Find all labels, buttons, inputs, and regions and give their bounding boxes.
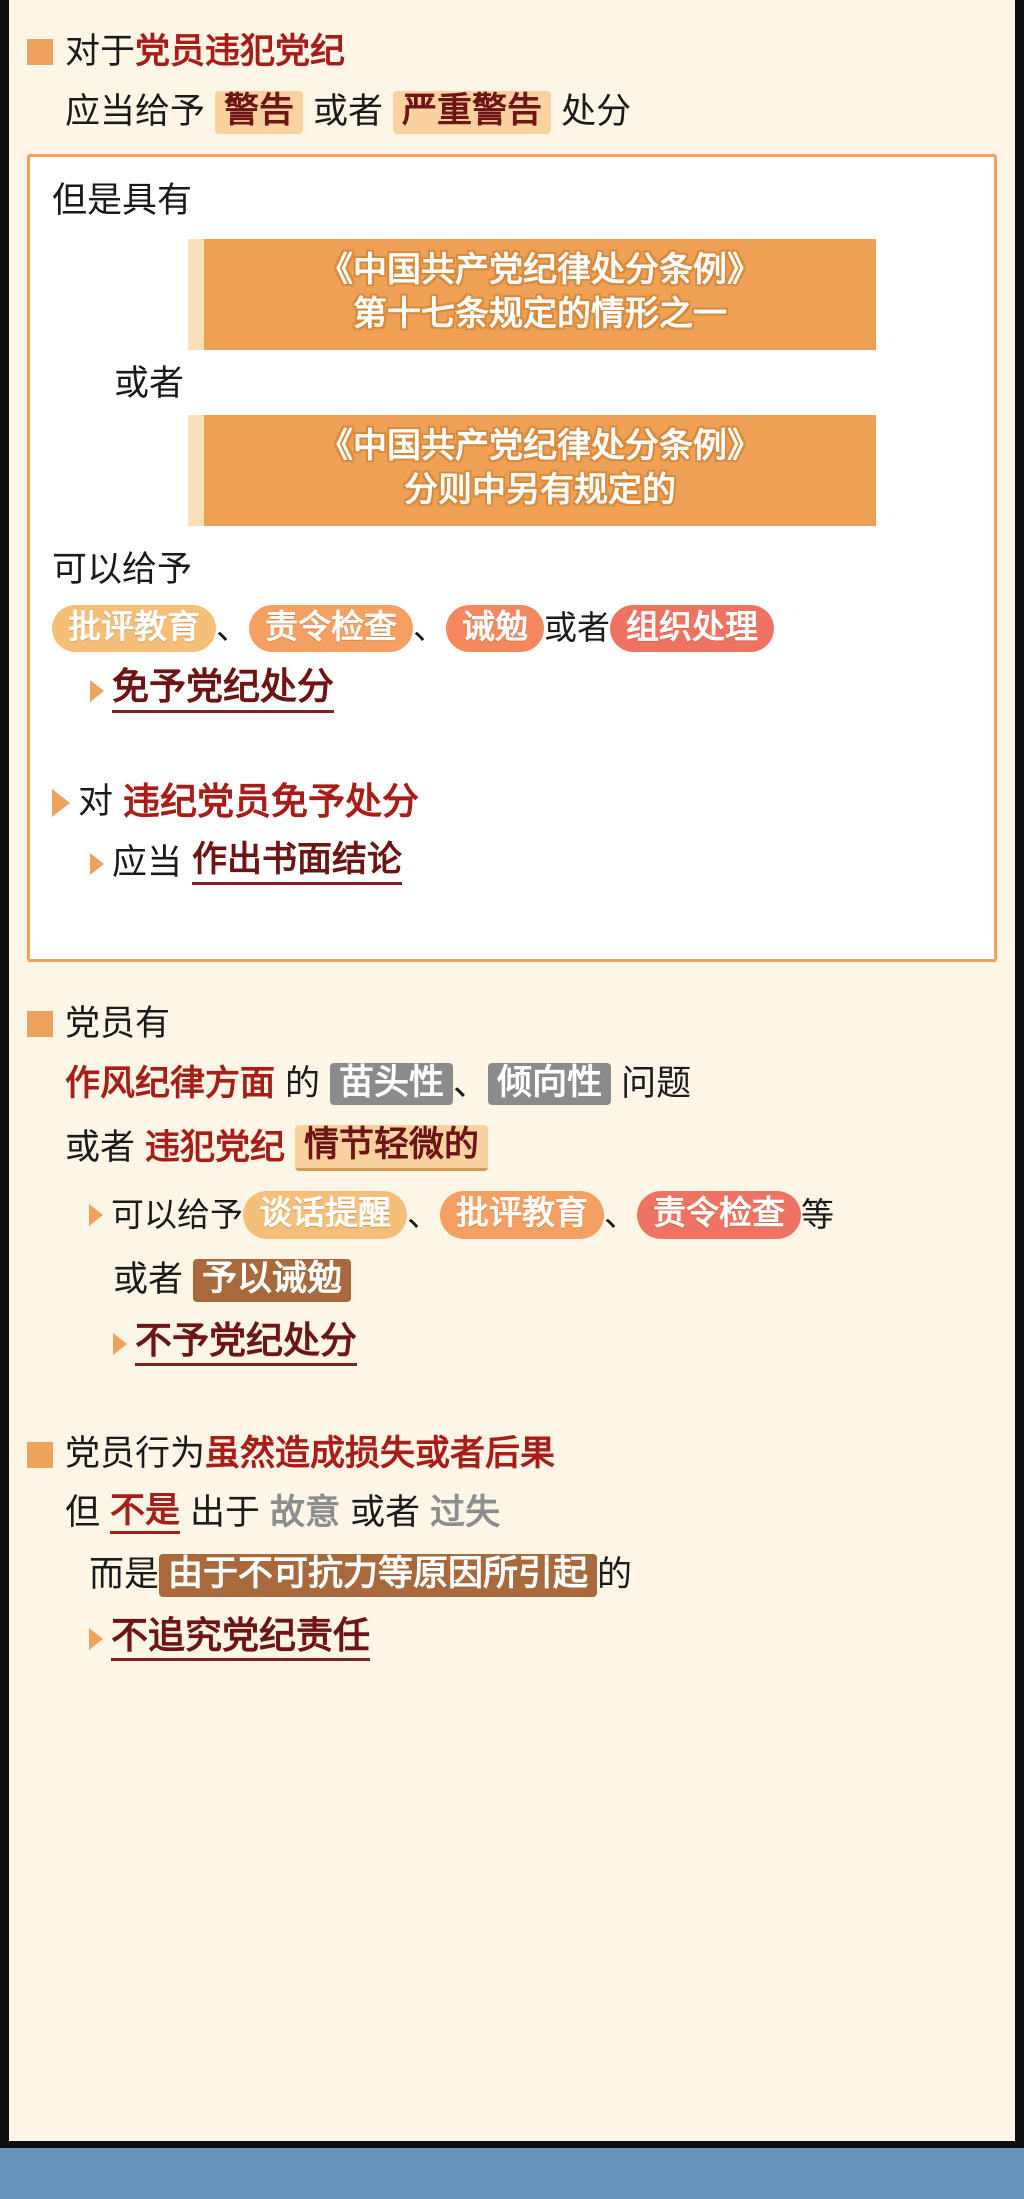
pill-organizational-handling[interactable]: 组织处理 bbox=[610, 605, 774, 653]
chip-force-majeure: 由于不可抗力等原因所引起 bbox=[159, 1554, 597, 1597]
banner1-line1: 《中国共产党纪律处分条例》 bbox=[222, 249, 858, 293]
section3-l2-b: 的 bbox=[597, 1557, 632, 1594]
banner2-wrap: 《中国共产党纪律处分条例》 分则中另有规定的 bbox=[52, 415, 972, 526]
section3-l2-a: 而是 bbox=[89, 1557, 159, 1594]
section2-l2-red: 违犯党纪 bbox=[145, 1130, 285, 1167]
frame-connector: 或者 bbox=[52, 366, 972, 403]
pill-admonishment[interactable]: 诫勉 bbox=[446, 605, 544, 653]
section3-l1-gray1: 故意 bbox=[270, 1495, 340, 1532]
section3-l1-b: 出于 bbox=[190, 1495, 260, 1532]
chip-warning: 警告 bbox=[215, 91, 303, 134]
frame-line1: 但是具有 bbox=[52, 183, 972, 220]
pill-order-inspection[interactable]: 责令检查 bbox=[637, 1191, 801, 1239]
section2-result-text: 不予党纪处分 bbox=[135, 1322, 357, 1367]
frame-conclusion: 对 违纪党员免予处分 bbox=[52, 783, 972, 822]
frame-result-1-text: 免予党纪处分 bbox=[112, 668, 334, 713]
triangle-bullet-icon bbox=[89, 1628, 103, 1650]
triangle-bullet-icon bbox=[90, 853, 104, 875]
frame-conclusion-a: 对 bbox=[78, 784, 113, 821]
banner1-wrap: 《中国共产党纪律处分条例》 第十七条规定的情形之一 bbox=[52, 239, 972, 350]
law-banner-1: 《中国共产党纪律处分条例》 第十七条规定的情形之一 bbox=[188, 239, 876, 350]
section3-heading-red: 虽然造成损失或者后果 bbox=[205, 1436, 555, 1473]
triangle-bullet-icon bbox=[52, 789, 70, 817]
section2-result: 不予党纪处分 bbox=[27, 1322, 997, 1367]
section3-line2: 而是 由于不可抗力等原因所引起 的 bbox=[27, 1554, 997, 1597]
pill-order-inspection[interactable]: 责令检查 bbox=[249, 605, 413, 653]
section2-l1-red: 作风纪律方面 bbox=[65, 1066, 275, 1103]
section2-l2-a: 或者 bbox=[65, 1130, 135, 1167]
bottom-divider bbox=[0, 2141, 1024, 2148]
banner1-line2: 第十七条规定的情形之一 bbox=[222, 293, 858, 337]
frame-conclusion-sub-a: 应当 bbox=[112, 845, 182, 882]
section2-l3-sep-2: 、 bbox=[604, 1198, 637, 1233]
left-rail bbox=[0, 0, 9, 2199]
law-banner-2: 《中国共产党纪律处分条例》 分则中另有规定的 bbox=[188, 415, 876, 526]
section1-line2-c: 处分 bbox=[561, 94, 631, 131]
section3-result: 不追究党纪责任 bbox=[27, 1617, 997, 1662]
pill-criticism-education[interactable]: 批评教育 bbox=[440, 1191, 604, 1239]
pill-sep-2: 、 bbox=[413, 611, 446, 646]
section3-line1: 但 不是 出于 故意 或者 过失 bbox=[27, 1493, 997, 1534]
chip-severe-warning: 严重警告 bbox=[393, 91, 551, 134]
section1-heading-plain: 对于 bbox=[65, 34, 135, 71]
frame-result-1: 免予党纪处分 bbox=[52, 668, 972, 713]
chip-minor-circumstance: 情节轻微的 bbox=[295, 1125, 488, 1171]
section2-l1-de: 的 bbox=[285, 1066, 320, 1103]
bottom-blue-band bbox=[0, 2148, 1024, 2199]
section2-l1-tail: 问题 bbox=[621, 1066, 691, 1103]
section1-frame: 但是具有 《中国共产党纪律处分条例》 第十七条规定的情形之一 或者 《中国共产党… bbox=[27, 154, 997, 962]
section1-heading: 对于 党员违犯党纪 bbox=[27, 34, 997, 71]
frame-can-give: 可以给予 bbox=[52, 552, 972, 589]
section1-line2: 应当给予 警告 或者 严重警告 处分 bbox=[27, 91, 997, 134]
frame-connector-text: 或者 bbox=[114, 366, 184, 403]
section2-l3-tail: 等 bbox=[801, 1198, 834, 1233]
square-bullet-icon bbox=[27, 39, 53, 65]
section1-line2-b: 或者 bbox=[313, 94, 383, 131]
section2-line1: 作风纪律方面 的 苗头性 、 倾向性 问题 bbox=[27, 1063, 997, 1106]
frame-conclusion-sub-b: 作出书面结论 bbox=[192, 842, 402, 885]
triangle-bullet-icon bbox=[90, 680, 104, 702]
section2-l4-a: 或者 bbox=[113, 1262, 183, 1299]
infographic-page: 对于 党员违犯党纪 应当给予 警告 或者 严重警告 处分 但是具有 《中国共产 bbox=[0, 0, 1024, 2199]
right-rail bbox=[1015, 0, 1024, 2199]
section2-heading-text: 党员有 bbox=[65, 1006, 170, 1043]
chip-give-admonishment: 予以诫勉 bbox=[193, 1259, 351, 1302]
chip-budding-issue: 苗头性 bbox=[330, 1063, 453, 1106]
pill-criticism-education[interactable]: 批评教育 bbox=[52, 605, 216, 653]
section3-heading: 党员行为 虽然造成损失或者后果 bbox=[27, 1436, 997, 1473]
section3-heading-plain: 党员行为 bbox=[65, 1436, 205, 1473]
section3-result-text: 不追究党纪责任 bbox=[111, 1617, 370, 1662]
square-bullet-icon bbox=[27, 1442, 53, 1468]
section1-line2-a: 应当给予 bbox=[65, 94, 205, 131]
section3-l1-a: 但 bbox=[65, 1495, 100, 1532]
triangle-bullet-icon bbox=[89, 1204, 103, 1226]
section3-l1-c: 或者 bbox=[350, 1495, 420, 1532]
section3-l1-red: 不是 bbox=[110, 1493, 180, 1534]
frame-conclusion-sub: 应当 作出书面结论 bbox=[52, 842, 972, 885]
frame-line1-text: 但是具有 bbox=[52, 183, 192, 220]
frame-can-give-text: 可以给予 bbox=[52, 552, 192, 589]
measure-pill-row: 批评教育 、 责令检查 、 诫勉 或者 组织处理 bbox=[52, 605, 972, 653]
chip-tendency-issue: 倾向性 bbox=[488, 1063, 611, 1106]
section2-line4: 或者 予以诫勉 bbox=[27, 1259, 997, 1302]
section2-heading: 党员有 bbox=[27, 1006, 997, 1043]
section3-l1-gray2: 过失 bbox=[430, 1495, 500, 1532]
triangle-bullet-icon bbox=[113, 1333, 127, 1355]
banner2-line1: 《中国共产党纪律处分条例》 bbox=[222, 425, 858, 469]
pill-sep-1: 、 bbox=[216, 611, 249, 646]
square-bullet-icon bbox=[27, 1011, 53, 1037]
section2-l3-a: 可以给予 bbox=[111, 1198, 243, 1233]
section2-line3: 可以给予 谈话提醒 、 批评教育 、 责令检查 等 bbox=[27, 1191, 997, 1239]
content-column: 对于 党员违犯党纪 应当给予 警告 或者 严重警告 处分 但是具有 《中国共产 bbox=[9, 0, 1015, 1661]
frame-conclusion-b: 违纪党员免予处分 bbox=[123, 783, 419, 822]
pill-or-text: 或者 bbox=[544, 611, 610, 646]
pill-talk-reminder[interactable]: 谈话提醒 bbox=[243, 1191, 407, 1239]
banner2-line2: 分则中另有规定的 bbox=[222, 469, 858, 513]
section2-l3-sep-1: 、 bbox=[407, 1198, 440, 1233]
section2-l1-sep: 、 bbox=[453, 1066, 488, 1103]
section1-heading-red: 党员违犯党纪 bbox=[135, 34, 345, 71]
section2-line2: 或者 违犯党纪 情节轻微的 bbox=[27, 1125, 997, 1171]
